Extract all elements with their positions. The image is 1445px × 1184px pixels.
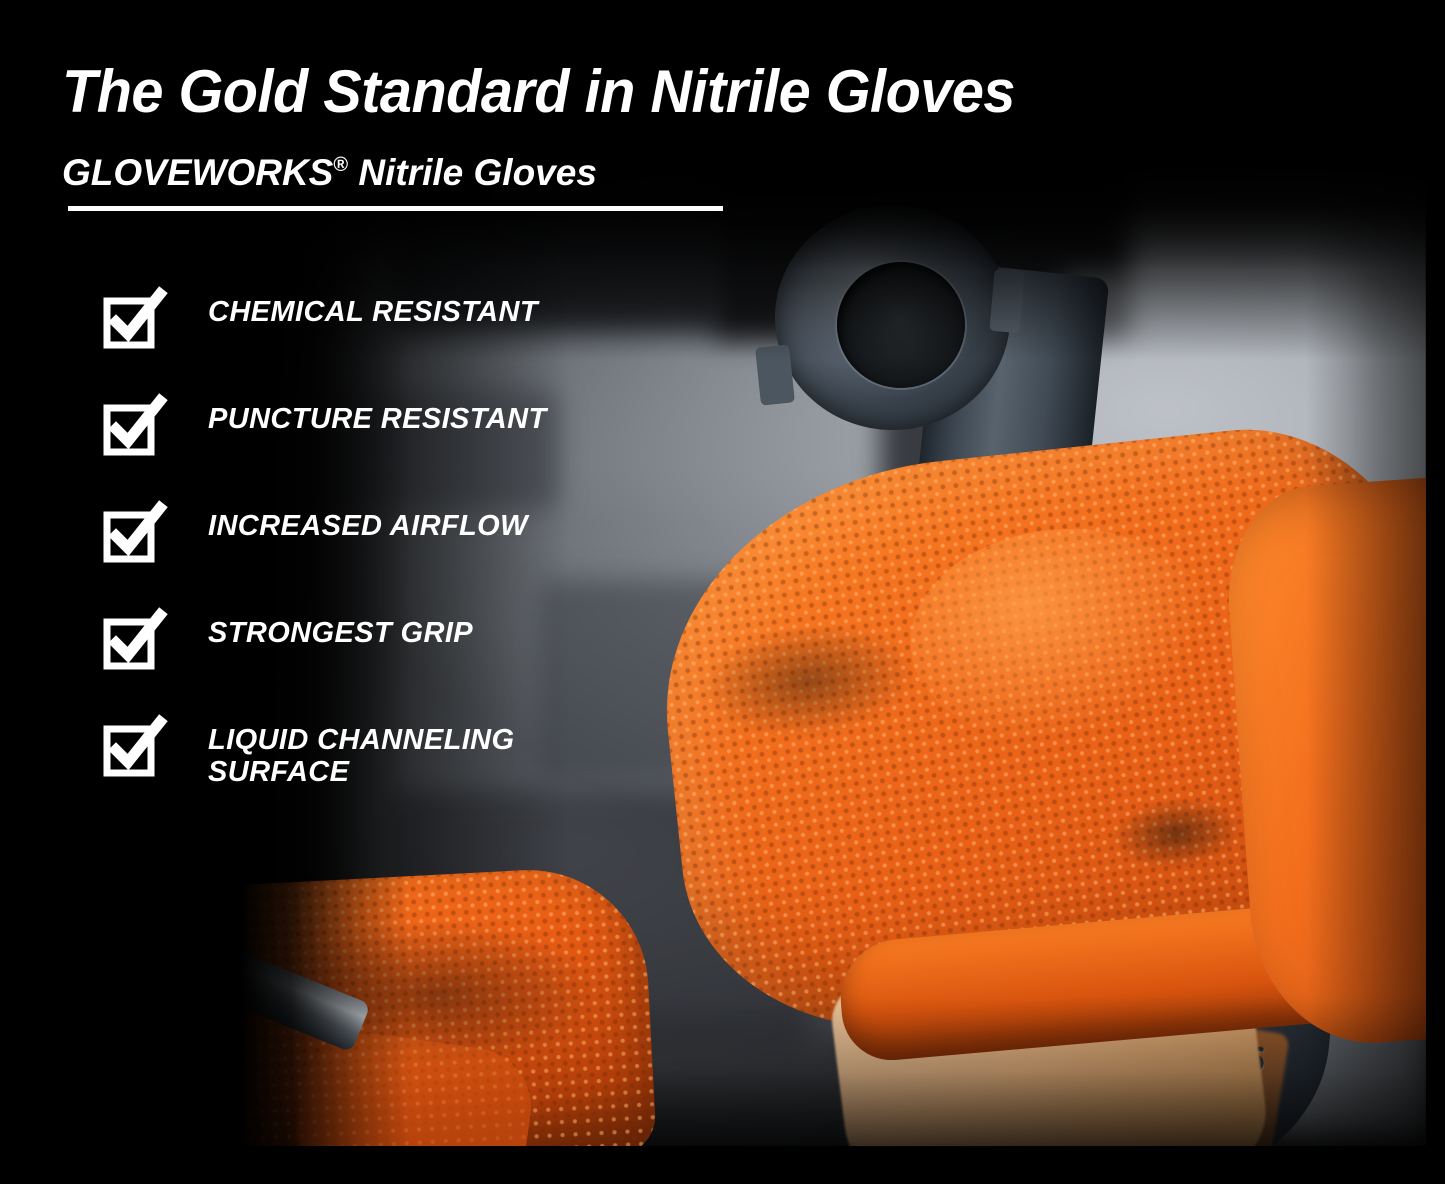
- brand-name: GLOVEWORKS: [62, 152, 333, 193]
- brand-product: Nitrile Gloves: [348, 152, 597, 193]
- list-item-label: CHEMICAL RESISTANT: [208, 296, 538, 328]
- list-item: INCREASED AIRFLOW: [104, 506, 664, 562]
- frame-band-right: [1426, 0, 1445, 1184]
- feature-list: CHEMICAL RESISTANT PUNCTURE RESISTANT IN…: [104, 292, 664, 789]
- checked-checkbox-icon: [104, 506, 160, 562]
- brand-subtitle: GLOVEWORKS® Nitrile Gloves: [62, 152, 597, 194]
- list-item: LIQUID CHANNELING SURFACE: [104, 720, 664, 789]
- checked-checkbox-icon: [104, 399, 160, 455]
- list-item: PUNCTURE RESISTANT: [104, 399, 664, 455]
- checked-checkbox-icon: [104, 292, 160, 348]
- checked-checkbox-icon: [104, 613, 160, 669]
- list-item: STRONGEST GRIP: [104, 613, 664, 669]
- checked-checkbox-icon: [104, 720, 160, 776]
- list-item-label: PUNCTURE RESISTANT: [208, 403, 547, 435]
- list-item: CHEMICAL RESISTANT: [104, 292, 664, 348]
- title-underline-rule: [68, 206, 723, 211]
- list-item-label: STRONGEST GRIP: [208, 617, 473, 649]
- page-title: The Gold Standard in Nitrile Gloves: [62, 60, 1339, 123]
- registered-trademark-icon: ®: [333, 154, 348, 176]
- gloveworks-ad-banner: 45: [0, 0, 1445, 1184]
- photo-vignette-right: [1306, 150, 1426, 1146]
- list-item-label: LIQUID CHANNELING SURFACE: [208, 724, 514, 789]
- frame-band-bottom: [0, 1146, 1445, 1184]
- list-item-label: INCREASED AIRFLOW: [208, 510, 528, 542]
